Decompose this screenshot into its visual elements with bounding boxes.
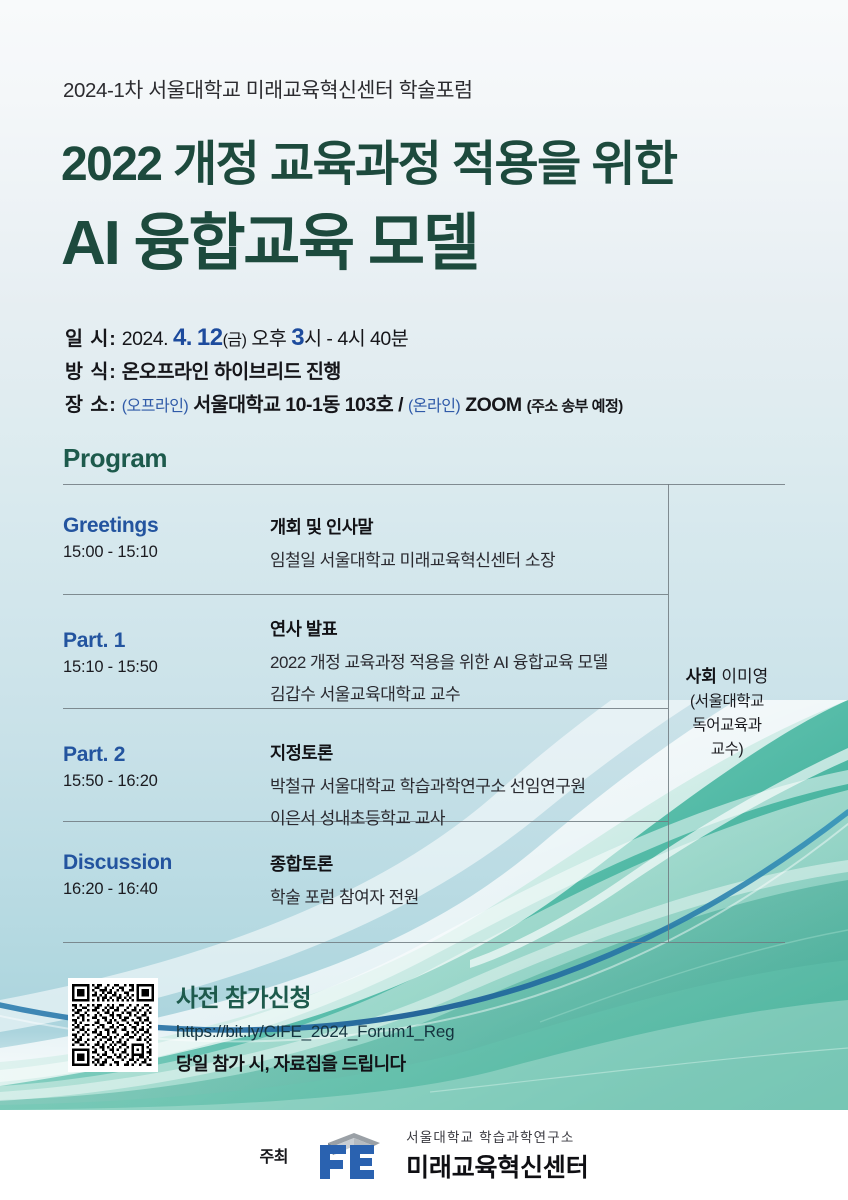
detail-date-day: 12 (197, 324, 223, 351)
poster-title-line2: AI 융합교육 모델 (61, 192, 478, 282)
forum-kicker: 2024-1차 서울대학교 미래교육혁신센터 학술포럼 (63, 73, 473, 103)
row-content-line: 임철일 서울대학교 미래교육혁신센터 소장 (270, 546, 668, 571)
row-content-line: 학술 포럼 참여자 전원 (270, 883, 668, 908)
row-content-heading: 연사 발표 (270, 616, 668, 641)
fe-monogram-logo-icon (310, 1129, 384, 1181)
program-table: Greetings 15:00 - 15:10 개회 및 인사말 임철일 서울대… (63, 484, 785, 942)
detail-label-place: 장 소: (65, 394, 117, 416)
row-content-heading: 개회 및 인사말 (270, 514, 668, 539)
program-heading: Program (63, 443, 167, 474)
detail-date-rest: 시 - 4시 40분 (304, 328, 408, 350)
row-session-name: Part. 1 (63, 629, 263, 653)
moderator-cell: 사회 이미영 (서울대학교 독어교육과 교수) (669, 484, 785, 942)
detail-place-online-tag: (온라인) (408, 398, 460, 415)
detail-place-online-note: (주소 송부 예정) (527, 398, 623, 415)
poster-title-line1: 2022 개정 교육과정 적용을 위한 (61, 124, 677, 194)
row-label-cell: Greetings 15:00 - 15:10 (63, 514, 263, 562)
table-row: Greetings 15:00 - 15:10 개회 및 인사말 임철일 서울대… (63, 484, 668, 594)
detail-date-weekday: (금) (223, 332, 247, 349)
row-content-cell: 종합토론 학술 포럼 참여자 전원 (270, 851, 668, 908)
row-session-name: Greetings (63, 514, 263, 538)
detail-date-year: 2024. (122, 328, 168, 350)
detail-label-date: 일 시: (65, 328, 117, 350)
table-row: Part. 2 15:50 - 16:20 지정토론 박철규 서울대학교 학습과… (63, 708, 668, 821)
detail-place-separator: / (398, 394, 403, 416)
moderator-line-1: 사회 이미영 (686, 664, 769, 691)
detail-row-format: 방 식: 온오프라인 하이브리드 진행 (65, 355, 341, 384)
detail-date-ampm: 오후 (251, 328, 286, 350)
row-content-heading: 지정토론 (270, 740, 668, 765)
moderator-affiliation-line-2: 독어교육과 (692, 714, 761, 738)
row-content-line: 2022 개정 교육과정 적용을 위한 AI 융합교육 모델 (270, 648, 668, 673)
moderator-role: 사회 (686, 667, 717, 686)
host-label: 주최 (259, 1143, 288, 1167)
row-label-cell: Part. 1 15:10 - 15:50 (63, 629, 263, 677)
row-session-time: 16:20 - 16:40 (63, 880, 263, 899)
detail-date-month: 4. (173, 324, 192, 351)
qr-code-icon[interactable] (68, 978, 158, 1072)
row-session-time: 15:50 - 16:20 (63, 772, 263, 791)
detail-row-place: 장 소: (오프라인) 서울대학교 10-1동 103호 / (온라인) ZOO… (65, 388, 623, 417)
row-session-time: 15:00 - 15:10 (63, 543, 263, 562)
footer-bar: 주최 서울대학교 학습과학연구소 미래교육혁신센터 (0, 1110, 848, 1200)
row-content-cell: 지정토론 박철규 서울대학교 학습과학연구소 선임연구원 이은서 성내초등학교 … (270, 740, 668, 829)
organization-name-block: 서울대학교 학습과학연구소 미래교육혁신센터 (406, 1126, 588, 1184)
moderator-affiliation-line-3: 교수) (711, 738, 743, 762)
poster-canvas: 2024-1차 서울대학교 미래교육혁신센터 학술포럼 2022 개정 교육과정… (0, 0, 848, 1200)
registration-url[interactable]: https://bit.ly/CIFE_2024_Forum1_Reg (176, 1022, 454, 1042)
registration-note: 당일 참가 시, 자료집을 드립니다 (176, 1050, 454, 1076)
detail-row-date: 일 시: 2024. 4. 12(금) 오후 3시 - 4시 40분 (65, 322, 408, 352)
moderator-affiliation-line-1: (서울대학교 (690, 690, 764, 714)
row-content-line: 김갑수 서울교육대학교 교수 (270, 680, 668, 705)
detail-place-offline-tag: (오프라인) (122, 398, 189, 415)
moderator-name: 이미영 (721, 667, 768, 686)
row-content-cell: 연사 발표 2022 개정 교육과정 적용을 위한 AI 융합교육 모델 김갑수… (270, 616, 668, 705)
detail-place-offline-value: 서울대학교 10-1동 103호 (193, 394, 393, 416)
row-content-cell: 개회 및 인사말 임철일 서울대학교 미래교육혁신센터 소장 (270, 514, 668, 571)
table-row: Discussion 16:20 - 16:40 종합토론 학술 포럼 참여자 … (63, 821, 668, 942)
detail-place-online-value: ZOOM (465, 394, 522, 416)
organization-sub-name: 서울대학교 학습과학연구소 (406, 1126, 588, 1146)
detail-format-value: 온오프라인 하이브리드 진행 (122, 361, 341, 383)
row-label-cell: Discussion 16:20 - 16:40 (63, 851, 263, 899)
table-rule-bottom (63, 942, 785, 943)
row-session-name: Part. 2 (63, 743, 263, 767)
registration-title: 사전 참가신청 (176, 978, 454, 1013)
row-content-line: 박철규 서울대학교 학습과학연구소 선임연구원 (270, 772, 668, 797)
footer-content: 주최 서울대학교 학습과학연구소 미래교육혁신센터 (259, 1126, 588, 1184)
detail-label-format: 방 식: (65, 361, 117, 383)
table-row: Part. 1 15:10 - 15:50 연사 발표 2022 개정 교육과정… (63, 594, 668, 708)
row-session-time: 15:10 - 15:50 (63, 658, 263, 677)
registration-block: 사전 참가신청 https://bit.ly/CIFE_2024_Forum1_… (176, 978, 454, 1076)
row-label-cell: Part. 2 15:50 - 16:20 (63, 743, 263, 791)
detail-date-start-hour: 3 (291, 324, 304, 351)
organization-main-name: 미래교육혁신센터 (406, 1148, 588, 1184)
row-content-heading: 종합토론 (270, 851, 668, 876)
row-session-name: Discussion (63, 851, 263, 875)
